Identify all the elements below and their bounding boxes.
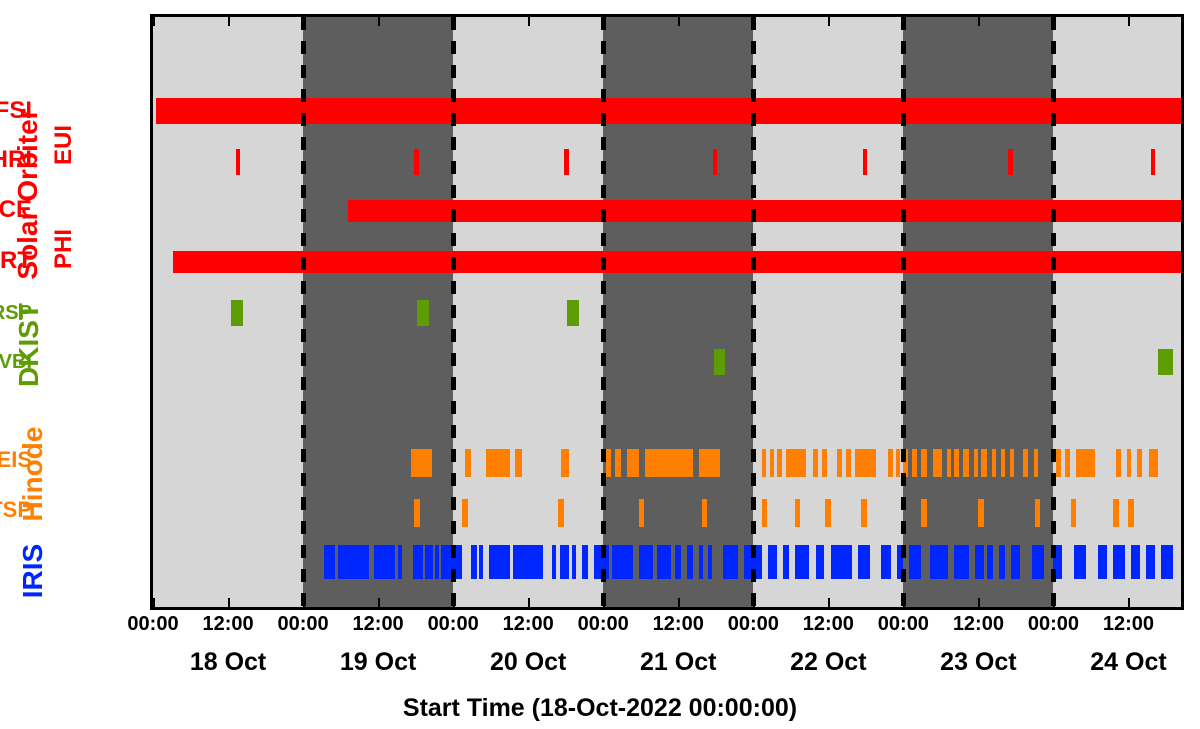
axis-tick: [528, 17, 530, 26]
timeline-segment: [639, 499, 644, 527]
timeline-segment: [933, 449, 942, 477]
timeline-segment: [992, 449, 997, 477]
timeline-segment: [981, 449, 987, 477]
timeline-segment: [713, 149, 718, 175]
axis-tick: [303, 17, 305, 26]
timeline-figure: Solar Orbiter EUI PHI DKIST Hinode IRIS …: [0, 0, 1200, 729]
timeline-row-spice[interactable]: [153, 200, 1181, 222]
timeline-segment: [1076, 449, 1096, 477]
day-separator-5: [901, 17, 906, 607]
timeline-segment: [975, 545, 984, 579]
timeline-segment: [471, 545, 477, 579]
timeline-segment: [572, 545, 577, 579]
timeline-segment: [687, 545, 693, 579]
timeline-segment: [398, 545, 403, 579]
timeline-segment: [921, 449, 927, 477]
timeline-segment: [987, 545, 993, 579]
timeline-segment: [1008, 149, 1013, 175]
timeline-segment: [896, 449, 901, 477]
timeline-segment: [1116, 449, 1121, 477]
timeline-segment: [612, 545, 633, 579]
timeline-segment: [978, 499, 984, 527]
timeline-segment: [783, 545, 789, 579]
day-separator-2: [451, 17, 456, 607]
timeline-segment: [515, 449, 523, 477]
timeline-segment: [552, 545, 556, 579]
subgroup-label-phi: PHI: [52, 211, 76, 287]
axis-tick: [603, 17, 605, 26]
timeline-segment: [657, 545, 671, 579]
axis-tick-label: 12:00: [1103, 613, 1154, 636]
timeline-segment: [1158, 349, 1173, 375]
timeline-segment: [723, 545, 738, 579]
axis-tick-label: 00:00: [728, 613, 779, 636]
timeline-segment: [1151, 149, 1156, 175]
axis-day-label: 22 Oct: [790, 648, 866, 677]
axis-tick: [153, 17, 155, 26]
timeline-segment: [486, 449, 510, 477]
timeline-segment: [1056, 449, 1061, 477]
row-label-eis: EIS: [0, 449, 32, 471]
timeline-segment: [417, 545, 423, 579]
timeline-segment: [173, 251, 1181, 273]
timeline-segment: [414, 499, 420, 527]
timeline-segment: [414, 149, 419, 175]
row-label-hri: HRI: [0, 148, 32, 172]
row-label-visp-vbi: ViSP/VBI: [0, 352, 32, 372]
timeline-segment: [846, 449, 851, 477]
timeline-row-visp-vbi[interactable]: [153, 349, 1181, 375]
timeline-segment: [615, 449, 621, 477]
timeline-segment: [1161, 545, 1173, 579]
timeline-segment: [795, 545, 809, 579]
axis-tick-label: 00:00: [428, 613, 479, 636]
timeline-segment: [462, 499, 468, 527]
timeline-segment: [1137, 449, 1142, 477]
axis-tick: [978, 598, 980, 607]
timeline-segment: [822, 449, 827, 477]
day-separator-4: [751, 17, 756, 607]
timeline-segment: [1131, 545, 1140, 579]
timeline-segment: [627, 449, 639, 477]
timeline-segment: [714, 349, 725, 375]
axis-tick: [228, 598, 230, 607]
day-separator-3: [601, 17, 606, 607]
axis-tick: [678, 598, 680, 607]
timeline-segment: [699, 449, 720, 477]
timeline-segment: [1127, 449, 1132, 477]
timeline-segment: [974, 449, 979, 477]
timeline-segment: [1098, 545, 1107, 579]
timeline-segment: [338, 545, 370, 579]
timeline-row-iris[interactable]: [153, 545, 1181, 579]
timeline-segment: [881, 545, 892, 579]
axis-tick: [453, 17, 455, 26]
timeline-segment: [909, 545, 921, 579]
axis-tick-label: 00:00: [127, 613, 178, 636]
axis-tick: [753, 598, 755, 607]
timeline-segment: [786, 449, 806, 477]
axis-tick-label: 12:00: [503, 613, 554, 636]
timeline-segment: [963, 449, 969, 477]
group-label-dkist: DKIST: [15, 280, 43, 410]
timeline-segment: [825, 499, 831, 527]
timeline-segment: [429, 545, 433, 579]
axis-day-label: 23 Oct: [940, 648, 1016, 677]
timeline-segment: [606, 449, 611, 477]
axis-tick: [978, 17, 980, 26]
axis-tick: [1128, 17, 1130, 26]
timeline-segment: [1149, 449, 1158, 477]
timeline-segment: [702, 499, 707, 527]
timeline-segment: [770, 449, 775, 477]
axis-tick-label: 12:00: [653, 613, 704, 636]
timeline-segment: [564, 149, 569, 175]
axis-tick: [1053, 598, 1055, 607]
timeline-segment: [930, 545, 948, 579]
timeline-segment: [348, 200, 1181, 222]
axis-tick: [303, 598, 305, 607]
timeline-segment: [560, 545, 569, 579]
axis-tick: [903, 17, 905, 26]
timeline-segment: [888, 449, 893, 477]
timeline-segment: [1113, 499, 1119, 527]
timeline-row-fsi[interactable]: [153, 98, 1181, 124]
timeline-segment: [479, 545, 483, 579]
timeline-segment: [561, 449, 569, 477]
axis-tick: [228, 17, 230, 26]
timeline-segment: [921, 499, 927, 527]
timeline-segment: [816, 545, 824, 579]
timeline-segment: [156, 98, 1181, 124]
timeline-row-hrt[interactable]: [153, 251, 1181, 273]
axis-day-label: 21 Oct: [640, 648, 716, 677]
axis-tick-label: 00:00: [878, 613, 929, 636]
timeline-row-hri[interactable]: [153, 149, 1181, 175]
timeline-segment: [858, 545, 870, 579]
timeline-segment: [1071, 499, 1076, 527]
axis-tick-label: 12:00: [803, 613, 854, 636]
axis-tick: [1128, 598, 1130, 607]
timeline-segment: [639, 545, 653, 579]
group-label-iris: IRIS: [19, 523, 47, 619]
axis-tick: [378, 598, 380, 607]
row-label-cryonirsp: CryoNIRSP: [0, 303, 32, 323]
timeline-segment: [645, 449, 693, 477]
row-label-spice: SPICE: [0, 198, 32, 222]
axis-tick: [903, 598, 905, 607]
timeline-segment: [837, 449, 842, 477]
axis-day-label: 24 Oct: [1090, 648, 1166, 677]
timeline-segment: [1113, 545, 1125, 579]
timeline-segment: [1065, 449, 1070, 477]
day-separator-6: [1051, 17, 1056, 607]
axis-tick-label: 00:00: [1028, 613, 1079, 636]
timeline-segment: [855, 449, 876, 477]
timeline-row-eis[interactable]: [153, 449, 1181, 477]
timeline-segment: [374, 545, 395, 579]
timeline-segment: [1010, 449, 1015, 477]
timeline-segment: [435, 545, 439, 579]
row-label-fsi: FSI: [0, 99, 32, 123]
axis-tick: [153, 598, 155, 607]
timeline-segment: [231, 300, 243, 326]
axis-tick: [1053, 17, 1055, 26]
axis-tick-label: 00:00: [277, 613, 328, 636]
axis-day-label: 19 Oct: [340, 648, 416, 677]
timeline-segment: [954, 545, 969, 579]
day-separator-1: [301, 17, 306, 607]
subgroup-label-eui: EUI: [52, 110, 76, 180]
timeline-segment: [465, 449, 471, 477]
timeline-segment: [1034, 449, 1039, 477]
timeline-segment: [582, 545, 588, 579]
timeline-segment: [861, 499, 867, 527]
axis-tick: [378, 17, 380, 26]
timeline-segment: [513, 545, 543, 579]
timeline-segment: [1032, 545, 1044, 579]
x-axis-title: Start Time (18-Oct-2022 00:00:00): [0, 694, 1200, 723]
timeline-segment: [768, 545, 777, 579]
axis-tick: [753, 17, 755, 26]
timeline-segment: [947, 449, 952, 477]
timeline-segment: [411, 449, 432, 477]
timeline-segment: [489, 545, 510, 579]
timeline-segment: [1035, 499, 1040, 527]
axis-tick-label: 12:00: [353, 613, 404, 636]
timeline-segment: [777, 449, 782, 477]
timeline-segment: [954, 449, 959, 477]
axis-tick-label: 12:00: [202, 613, 253, 636]
timeline-segment: [762, 499, 767, 527]
timeline-segment: [912, 449, 917, 477]
timeline-segment: [236, 149, 241, 175]
timeline-row-cryonirsp[interactable]: [153, 300, 1181, 326]
timeline-segment: [831, 545, 852, 579]
timeline-segment: [762, 449, 766, 477]
timeline-row-sotsp[interactable]: [153, 499, 1181, 527]
timeline-segment: [675, 545, 681, 579]
timeline-segment: [999, 545, 1005, 579]
axis-tick: [828, 17, 830, 26]
axis-day-label: 20 Oct: [490, 648, 566, 677]
timeline-segment: [1011, 545, 1020, 579]
timeline-segment: [425, 545, 429, 579]
timeline-segment: [558, 499, 564, 527]
timeline-segment: [1001, 449, 1006, 477]
timeline-segment: [795, 499, 800, 527]
row-label-hrt: HRT: [0, 249, 32, 273]
axis-tick: [828, 598, 830, 607]
axis-tick-label: 12:00: [953, 613, 1004, 636]
axis-tick-label: 00:00: [578, 613, 629, 636]
timeline-segment: [1146, 545, 1155, 579]
timeline-plot-area[interactable]: [150, 14, 1184, 610]
row-label-sotsp: SOTSP: [0, 499, 32, 521]
axis-tick: [603, 598, 605, 607]
timeline-segment: [863, 149, 868, 175]
timeline-segment: [699, 545, 703, 579]
timeline-segment: [567, 300, 579, 326]
axis-tick: [528, 598, 530, 607]
timeline-segment: [324, 545, 335, 579]
timeline-segment: [1128, 499, 1134, 527]
timeline-segment: [1074, 545, 1086, 579]
axis-tick: [678, 17, 680, 26]
timeline-segment: [1023, 449, 1028, 477]
timeline-segment: [708, 545, 712, 579]
timeline-segment: [813, 449, 818, 477]
timeline-segment: [417, 300, 429, 326]
axis-tick: [453, 598, 455, 607]
timeline-segment: [413, 545, 417, 579]
axis-day-label: 18 Oct: [190, 648, 266, 677]
